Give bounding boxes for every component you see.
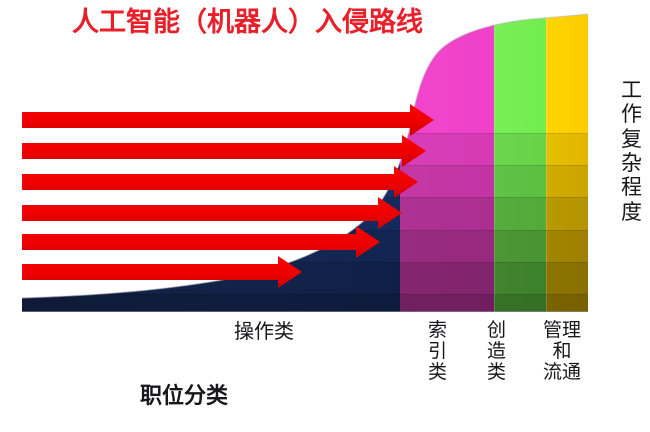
x-axis-label: 职位分类 — [140, 378, 228, 410]
complexity-rows — [22, 133, 588, 312]
plot-area — [22, 12, 588, 312]
chart-canvas: 人工智能（机器人）入侵路线 — [0, 0, 650, 432]
category-label-management: 管理 和 流通 — [543, 320, 581, 383]
category-label-index: 索 引 类 — [428, 320, 447, 383]
complexity-area-chart — [22, 12, 588, 312]
y-axis-label: 工 作 复 杂 程 度 — [621, 78, 642, 224]
chart-body — [22, 12, 588, 312]
category-label-operation: 操作类 — [234, 320, 294, 342]
category-label-creative: 创 造 类 — [487, 320, 506, 383]
